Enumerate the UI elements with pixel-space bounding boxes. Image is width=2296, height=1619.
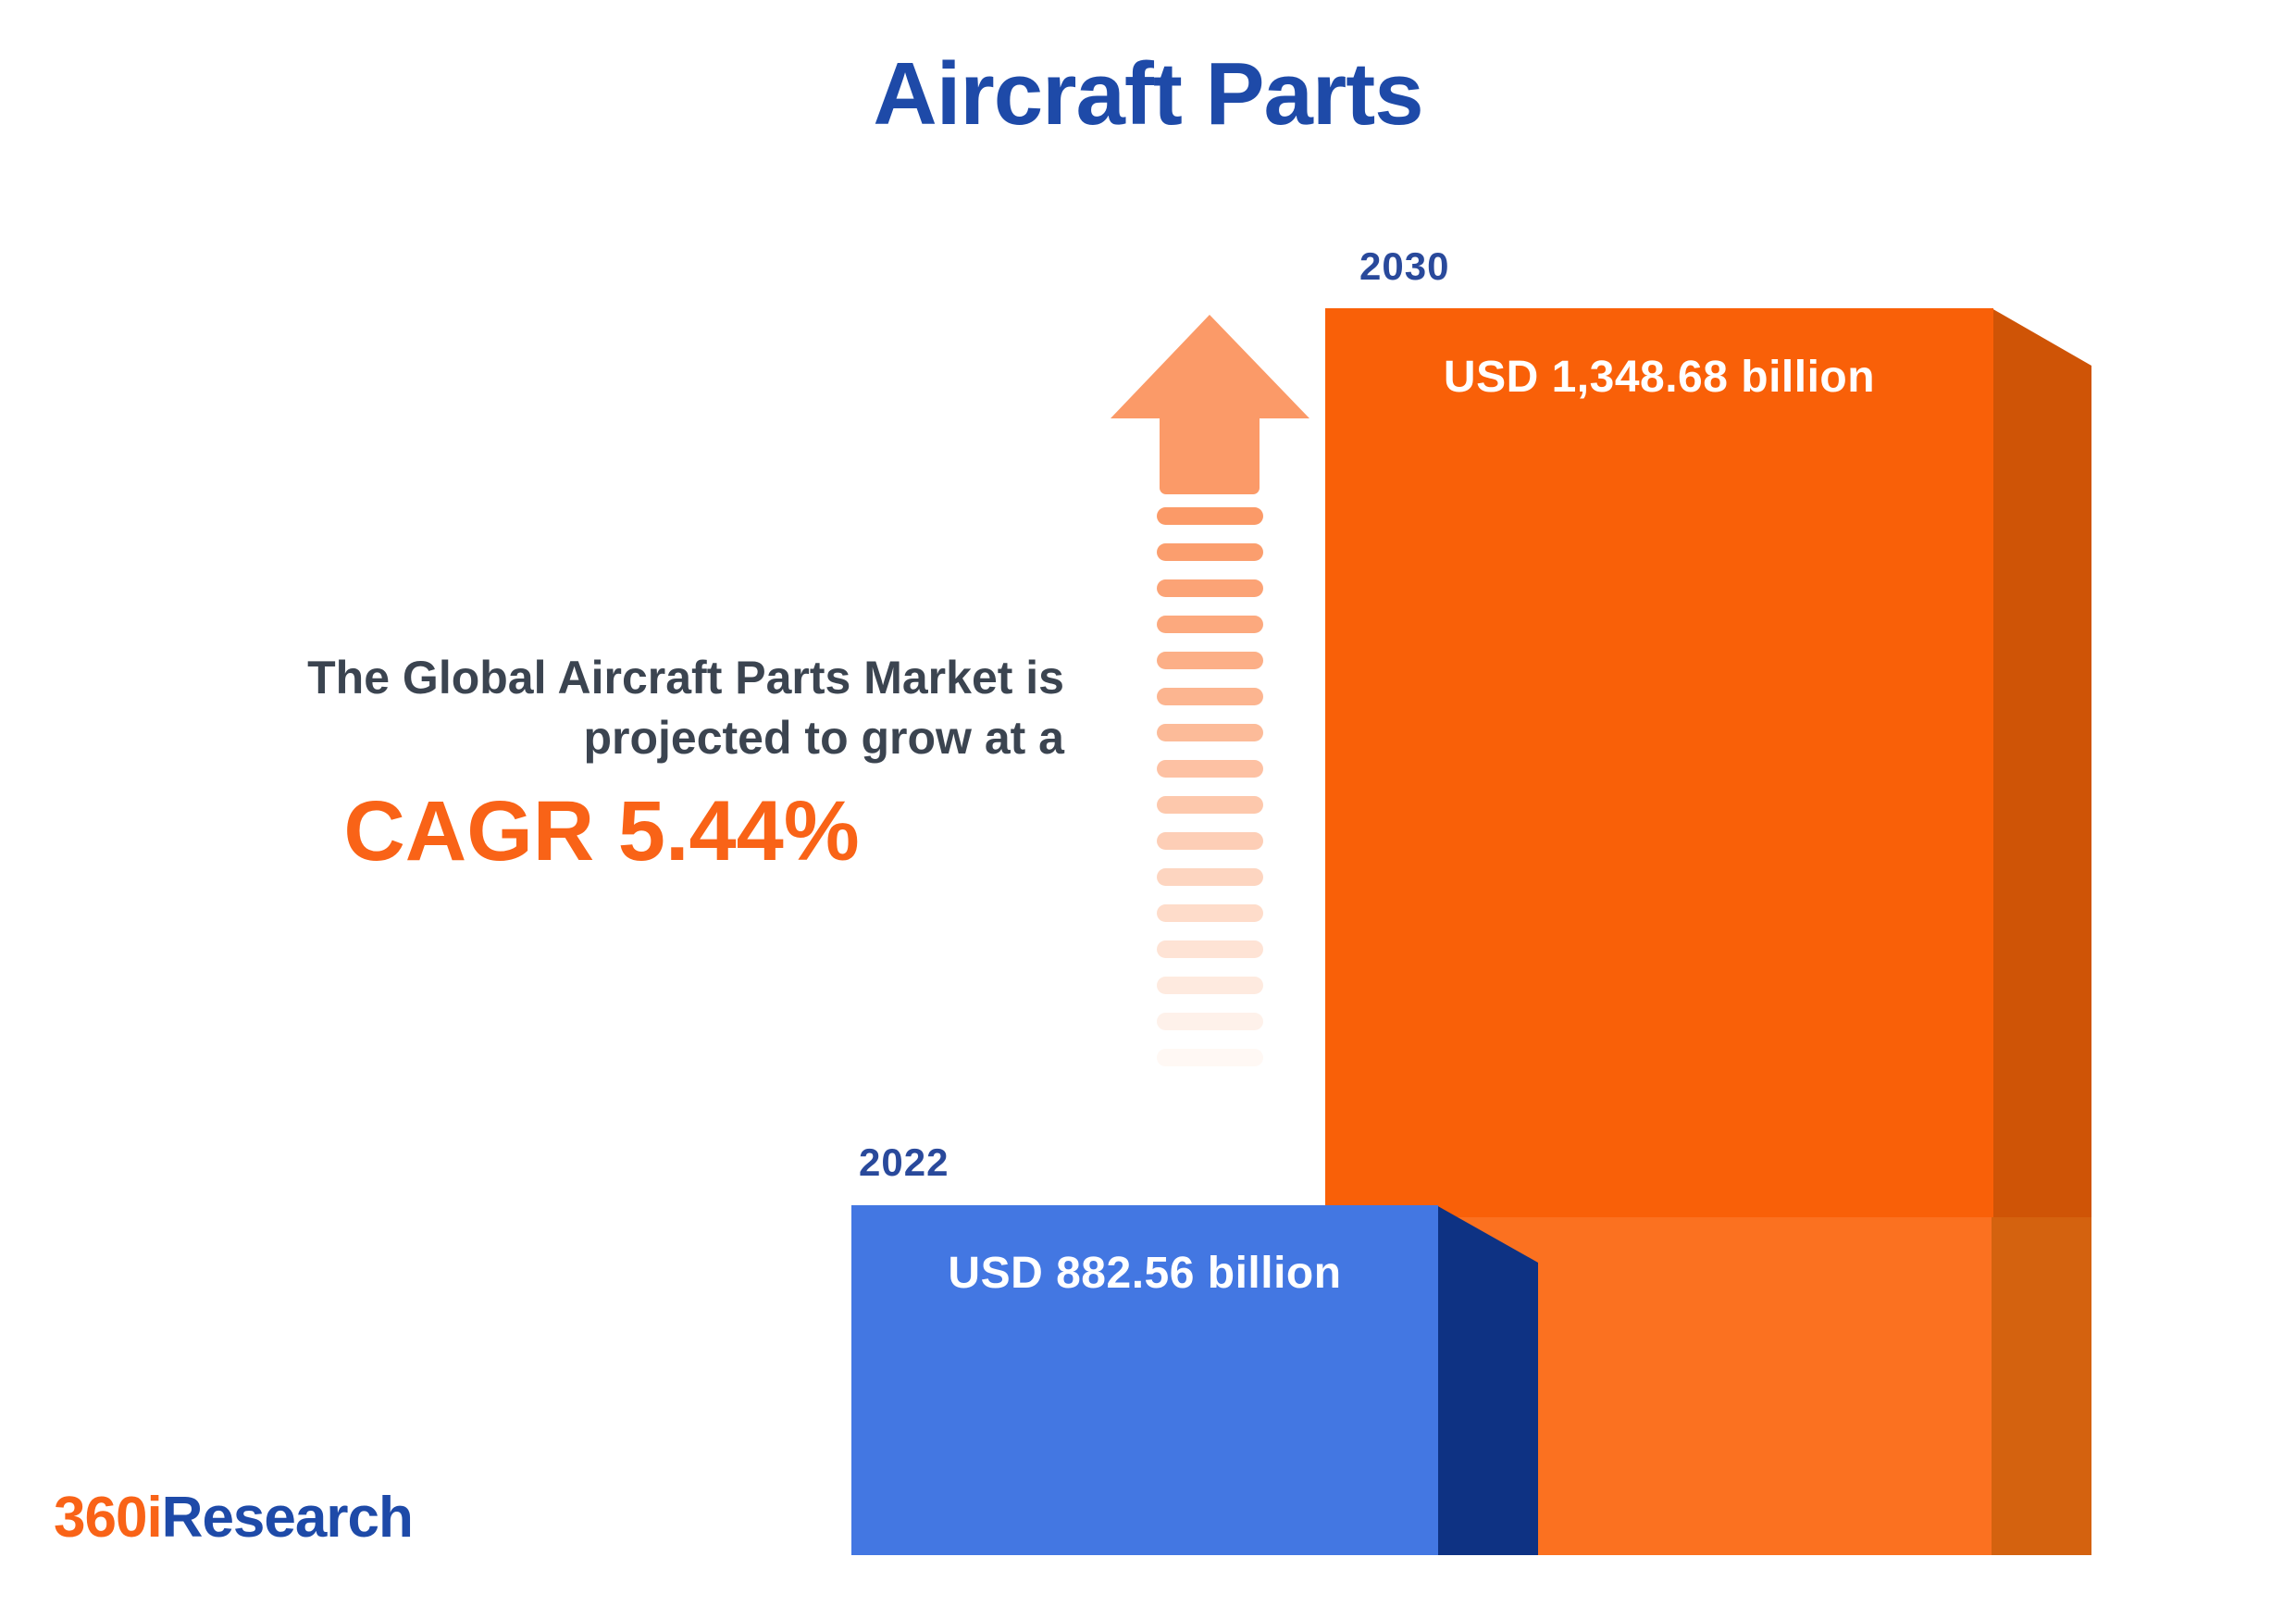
arrow-stripe <box>1157 579 1263 597</box>
arrow-stripe <box>1157 760 1263 778</box>
arrow-neck-icon <box>1160 418 1260 494</box>
page-title: Aircraft Parts <box>0 48 2296 142</box>
bar-2022-side-face <box>1436 1205 1538 1555</box>
arrow-stripe <box>1157 543 1263 561</box>
arrow-stripe <box>1157 507 1263 525</box>
bar-2022-value-label: USD 882.56 billion <box>851 1248 1438 1299</box>
arrow-stripe <box>1157 1049 1263 1066</box>
arrow-stripe <box>1157 977 1263 994</box>
arrow-stripe <box>1157 616 1263 633</box>
arrow-stripe <box>1157 904 1263 922</box>
statement-line-1: The Global Aircraft Parts Market is <box>139 648 1064 708</box>
statement-line-2: projected to grow at a <box>139 708 1064 768</box>
arrow-stripe <box>1157 652 1263 669</box>
arrow-stripe <box>1157 832 1263 850</box>
market-statement: The Global Aircraft Parts Market is proj… <box>139 648 1064 768</box>
logo-360i-text: 360i <box>54 1486 162 1550</box>
arrow-stripe <box>1157 688 1263 705</box>
arrow-stripe <box>1157 1013 1263 1030</box>
arrow-stripes-icon <box>1157 507 1263 1085</box>
bar-2030-value-label: USD 1,348.68 billion <box>1325 352 1993 403</box>
logo-research-text: Research <box>162 1486 413 1550</box>
arrow-head-icon <box>1111 315 1309 418</box>
arrow-stripe <box>1157 724 1263 741</box>
growth-arrow-icon <box>1111 315 1309 1092</box>
brand-logo: 360iResearch <box>54 1485 413 1551</box>
arrow-stripe <box>1157 868 1263 886</box>
cagr-value: CAGR 5.44% <box>139 785 1064 878</box>
infographic-canvas: Aircraft Parts The Global Aircraft Parts… <box>0 0 2296 1619</box>
bar-2030-side-face-lower <box>1992 1217 2091 1555</box>
bar-2022-year-label: 2022 <box>859 1140 949 1185</box>
arrow-stripe <box>1157 940 1263 958</box>
bar-2030-year-label: 2030 <box>1359 244 1449 289</box>
arrow-stripe <box>1157 796 1263 814</box>
